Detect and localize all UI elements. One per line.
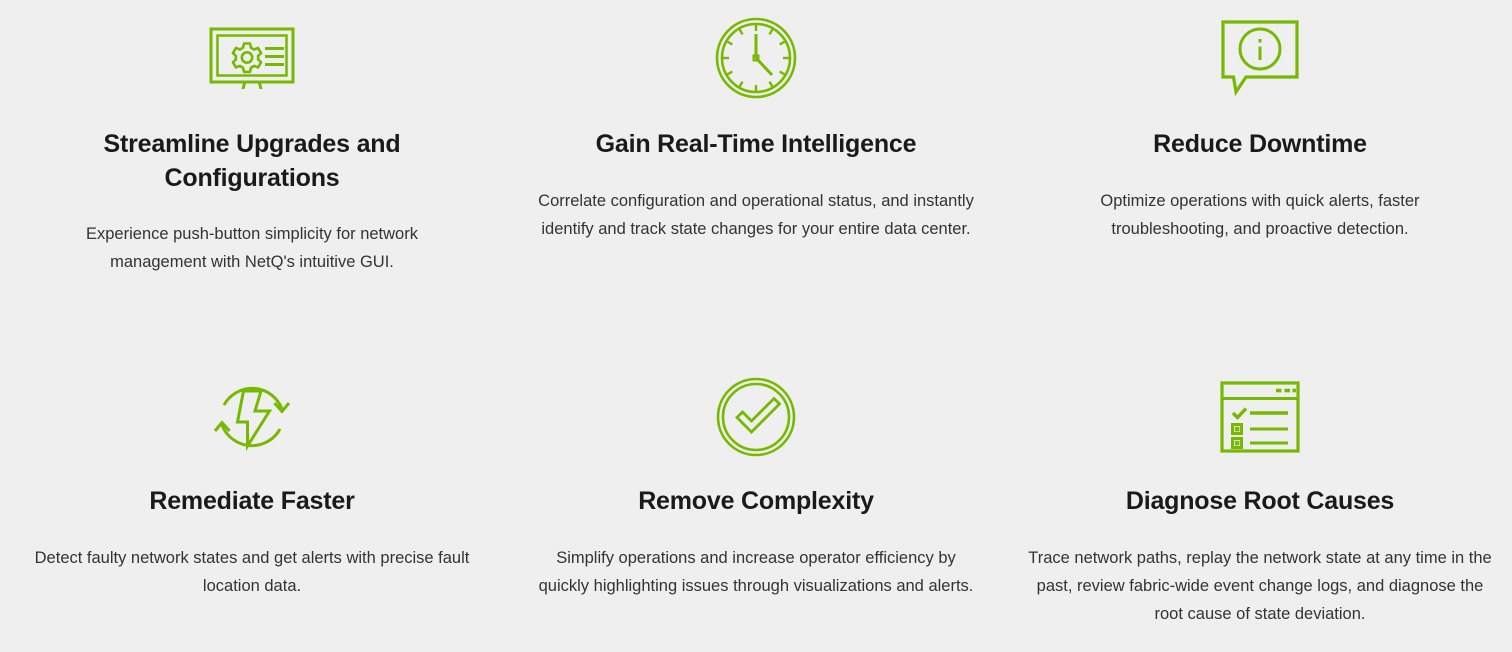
feature-card-diagnose-root-causes: Diagnose Root Causes Trace network paths… xyxy=(1008,359,1512,629)
feature-card-reduce-downtime: Reduce Downtime Optimize operations with… xyxy=(1008,0,1512,243)
feature-description: Detect faulty network states and get ale… xyxy=(26,544,478,601)
info-speech-bubble-icon xyxy=(1214,22,1306,94)
feature-title: Streamline Upgrades and Configurations xyxy=(52,128,452,195)
feature-description: Correlate configuration and operational … xyxy=(526,187,986,244)
feature-card-remediate-faster: Remediate Faster Detect faulty network s… xyxy=(0,359,504,600)
check-circle-icon xyxy=(710,381,802,453)
feature-card-realtime-intelligence: Gain Real-Time Intelligence Correlate co… xyxy=(504,0,1008,243)
feature-title: Remediate Faster xyxy=(149,485,354,519)
feature-title: Reduce Downtime xyxy=(1153,128,1367,162)
refresh-lightning-icon xyxy=(206,381,298,453)
feature-title: Diagnose Root Causes xyxy=(1126,485,1394,519)
feature-description: Simplify operations and increase operato… xyxy=(530,544,982,601)
checklist-window-icon xyxy=(1214,381,1306,453)
monitor-settings-icon xyxy=(206,22,298,94)
feature-title: Remove Complexity xyxy=(638,485,874,519)
feature-description: Trace network paths, replay the network … xyxy=(1026,544,1494,629)
feature-title: Gain Real-Time Intelligence xyxy=(596,128,917,162)
clock-icon xyxy=(710,22,802,94)
feature-description: Experience push-button simplicity for ne… xyxy=(60,220,445,277)
feature-description: Optimize operations with quick alerts, f… xyxy=(1060,187,1460,244)
feature-card-streamline-upgrades: Streamline Upgrades and Configurations E… xyxy=(0,0,504,277)
feature-grid: Streamline Upgrades and Configurations E… xyxy=(0,0,1512,652)
feature-card-remove-complexity: Remove Complexity Simplify operations an… xyxy=(504,359,1008,600)
